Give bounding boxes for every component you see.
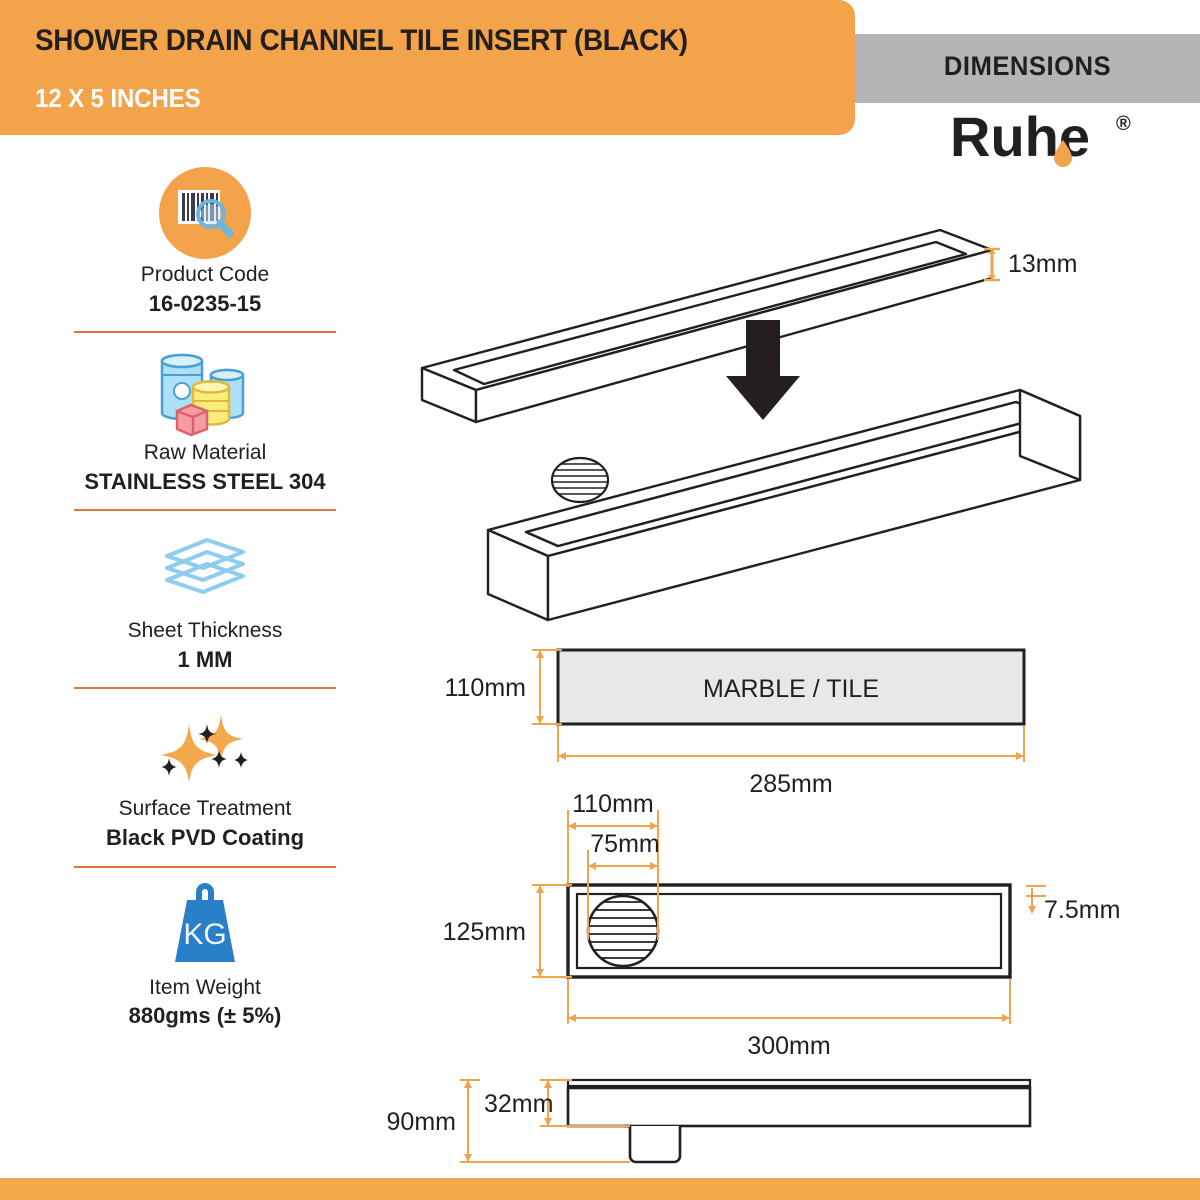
spec-value: Black PVD Coating	[60, 825, 350, 851]
spec-divider	[74, 866, 336, 868]
weight-kg-icon: KG	[159, 876, 251, 976]
spec-value: 16-0235-15	[60, 291, 350, 317]
marble-tile-insert-view: MARBLE / TILE	[558, 650, 1024, 724]
spec-item-sheet-thickness: Sheet Thickness 1 MM	[60, 521, 350, 673]
sheet-stack-icon	[147, 534, 263, 604]
spec-label: Surface Treatment	[60, 797, 350, 822]
dimensions-banner: DIMENSIONS	[855, 34, 1200, 103]
drain-outlet-hatch-isometric	[550, 458, 610, 502]
spec-icon-wrap: KG	[60, 878, 350, 974]
dimension-label-32mm: 32mm	[484, 1090, 553, 1118]
spec-item-item-weight: KG Item Weight 880gms (± 5%)	[60, 878, 350, 1030]
spec-divider	[74, 687, 336, 689]
dimension-285mm	[558, 726, 1024, 762]
dimension-label-110mm-tile: 110mm	[444, 674, 526, 702]
barcode-scan-icon	[159, 167, 251, 259]
dimension-7-5mm	[1026, 886, 1046, 912]
spec-icon-wrap	[60, 165, 350, 261]
dimension-label-110mm-plan: 110mm	[572, 790, 654, 818]
spec-icon-wrap	[60, 343, 350, 439]
spec-icon-wrap	[60, 699, 350, 795]
spec-divider	[74, 331, 336, 333]
page-title: SHOWER DRAIN CHANNEL TILE INSERT (BLACK)	[35, 24, 688, 58]
spec-value: STAINLESS STEEL 304	[60, 469, 350, 495]
spec-item-product-code: Product Code 16-0235-15	[60, 165, 350, 317]
spec-label: Product Code	[60, 263, 350, 288]
weight-icon-text: KG	[183, 918, 226, 951]
dimension-label-7-5mm: 7.5mm	[1044, 896, 1120, 924]
dimension-label-285mm: 285mm	[749, 770, 832, 798]
spec-label: Raw Material	[60, 441, 350, 466]
spec-divider	[74, 509, 336, 511]
dimension-label-75mm: 75mm	[590, 830, 659, 858]
registered-mark: ®	[1116, 113, 1131, 135]
spec-item-surface-treatment: Surface Treatment Black PVD Coating	[60, 699, 350, 851]
technical-drawings: 13mm MARBLE / TILE 110mm	[380, 150, 1200, 1180]
dimension-300mm	[568, 979, 1010, 1024]
channel-side-view	[568, 1080, 1030, 1162]
header-banner	[0, 0, 855, 135]
dimension-label-300mm: 300mm	[747, 1032, 830, 1060]
exploded-assembly-view	[422, 230, 1080, 620]
spec-label: Item Weight	[60, 976, 350, 1001]
spec-item-raw-material: Raw Material STAINLESS STEEL 304	[60, 343, 350, 495]
spec-value: 1 MM	[60, 647, 350, 673]
page-subtitle: 12 X 5 INCHES	[35, 83, 201, 114]
dimension-label-125mm: 125mm	[443, 918, 526, 946]
drain-outlet-hatch-plan	[586, 896, 660, 966]
spec-label: Sheet Thickness	[60, 619, 350, 644]
product-dimension-sheet: SHOWER DRAIN CHANNEL TILE INSERT (BLACK)…	[0, 0, 1200, 1200]
dimension-label-90mm: 90mm	[387, 1108, 456, 1136]
sparkle-icon	[145, 708, 265, 786]
footer-bar	[0, 1178, 1200, 1200]
dimension-125mm	[532, 885, 572, 977]
marble-tile-label: MARBLE / TILE	[703, 675, 879, 703]
dimension-label-13mm: 13mm	[1008, 250, 1077, 278]
spec-value: 880gms (± 5%)	[60, 1003, 350, 1029]
spec-icon-wrap	[60, 521, 350, 617]
dimension-13mm: 13mm	[984, 249, 1077, 280]
dimensions-banner-label: DIMENSIONS	[864, 51, 1192, 82]
specifications-sidebar: Product Code 16-0235-15	[60, 165, 350, 1030]
raw-material-drums-icon	[149, 345, 261, 437]
